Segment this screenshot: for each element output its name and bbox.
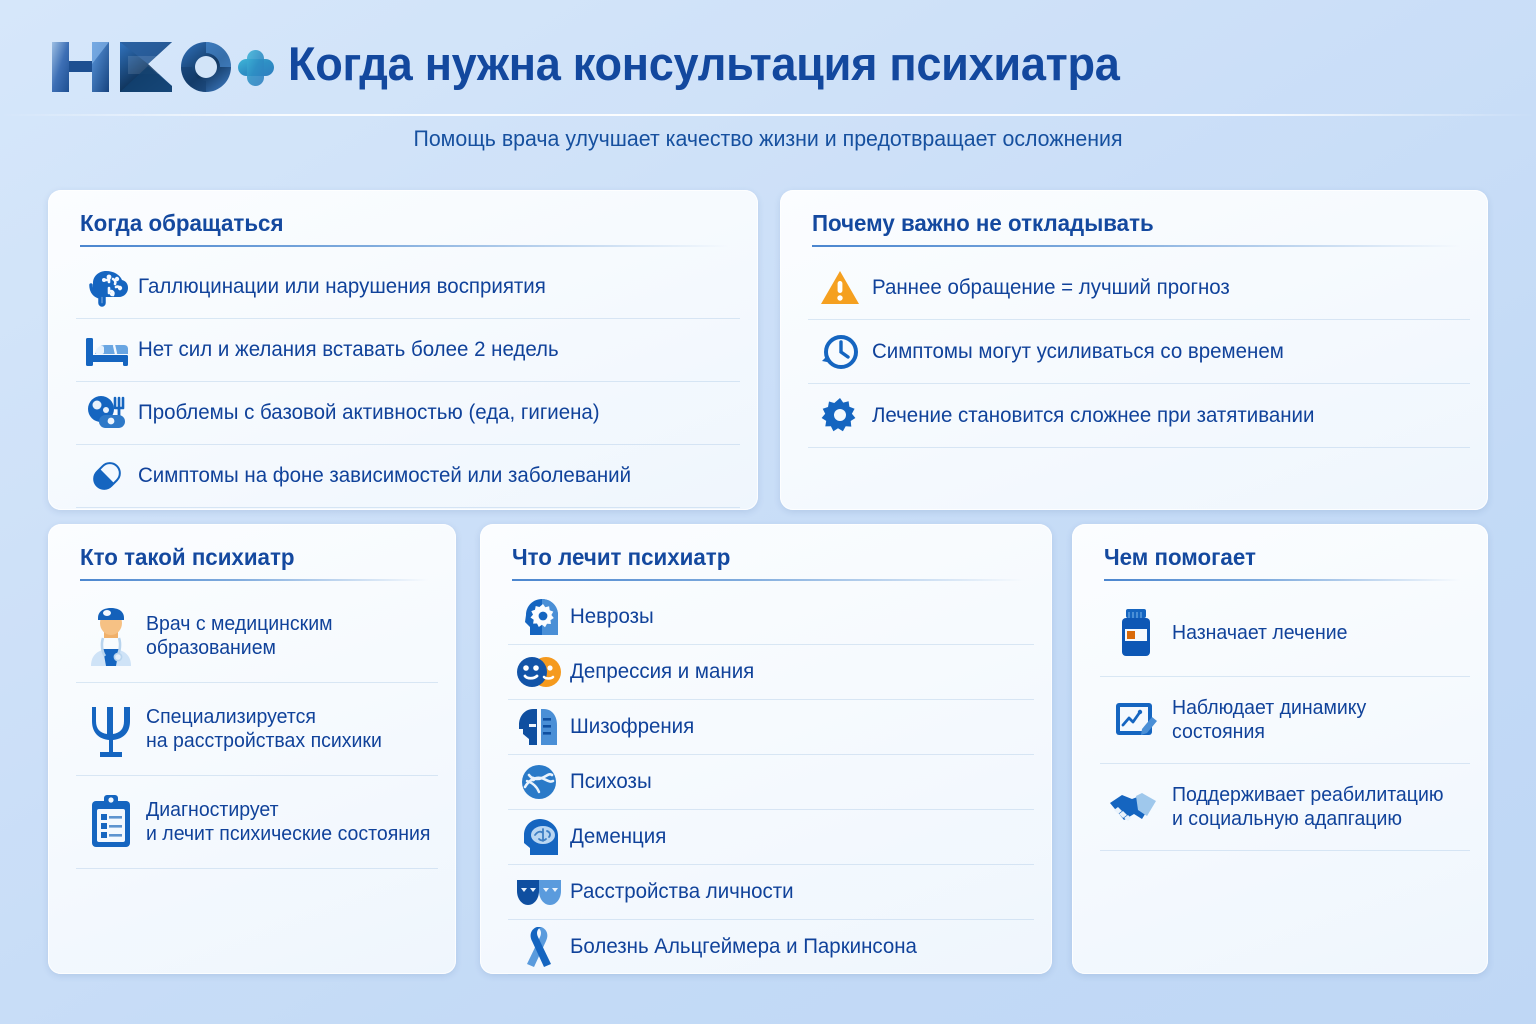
list-item[interactable]: Симптомы на фоне зависимостей или заболе… xyxy=(76,445,740,508)
list-item[interactable]: Поддерживает реабилитацию и социальную а… xyxy=(1100,764,1470,851)
doctor-icon xyxy=(76,604,146,668)
list-item[interactable]: Специализируется на расстройствах психик… xyxy=(76,683,438,776)
list-item-label: Шизофрения xyxy=(570,714,694,740)
list-item-label: Симптомы на фоне зависимостей или заболе… xyxy=(138,463,631,489)
list-item-line-2: и социальную адапгацию xyxy=(1172,807,1443,831)
list-item-line-1: Специализируется xyxy=(146,706,316,728)
list-item[interactable]: Депрессия и мания xyxy=(508,645,1034,700)
list-item-label: Болезнь Альцгеймера и Паркинсона xyxy=(570,934,917,960)
card-title: Чем помогает xyxy=(1104,544,1256,571)
card-item-list: Назначает лечение Наблюдает динамику сос… xyxy=(1100,590,1470,851)
list-item-line-1: Врач с медицинским xyxy=(146,613,333,635)
list-item-label: Раннее обращение = лучший прогноз xyxy=(872,275,1230,301)
chart-monitor-icon xyxy=(1100,698,1172,742)
card-title: Когда обращаться xyxy=(80,210,283,237)
card-how-helps: Чем помогает Назначает лечение xyxy=(1072,524,1488,974)
header: Когда нужна консультация психиатра Помощ… xyxy=(0,0,1536,172)
list-item-label: Деменция xyxy=(570,824,666,850)
head-tangle-icon xyxy=(508,761,570,803)
brain-icon xyxy=(76,267,138,307)
card-title-underline xyxy=(80,245,728,247)
head-gear-icon xyxy=(508,595,570,639)
list-item-label: Врач с медицинским образованием xyxy=(146,612,333,661)
medicine-bottle-icon xyxy=(1100,606,1172,660)
card-item-list: Врач с медицинским образованием Специали… xyxy=(76,590,438,869)
list-item[interactable]: Неврозы xyxy=(508,590,1034,645)
list-item-label: Лечение становится сложнее при затятиван… xyxy=(872,403,1314,429)
list-item-line-2: и лечит психические состояния xyxy=(146,822,430,846)
card-why-not-delay: Почему важно не откладывать Раннее обращ… xyxy=(780,190,1488,510)
card-title: Почему важно не откладывать xyxy=(812,210,1154,237)
warning-triangle-icon xyxy=(808,269,872,307)
pill-capsule-icon xyxy=(76,455,138,497)
list-item[interactable]: Врач с медицинским образованием xyxy=(76,590,438,683)
page-subtitle: Помощь врача улучшает качество жизни и п… xyxy=(23,126,1513,152)
list-item-label: Галлюцинации или нарушения восприятия xyxy=(138,274,546,300)
list-item-line-1: Наблюдает динамику состояния xyxy=(1172,697,1366,743)
neo-plus-logo xyxy=(48,34,276,100)
list-item[interactable]: Психозы xyxy=(508,755,1034,810)
list-item-label: Расстройства личности xyxy=(570,879,794,905)
bed-icon xyxy=(76,332,138,368)
header-divider xyxy=(0,114,1536,116)
list-item[interactable]: Симптомы могут усиливаться со временем xyxy=(808,320,1470,384)
list-item-label: Проблемы с базовой активностью (еда, гиг… xyxy=(138,400,600,426)
card-item-list: Галлюцинации или нарушения восприятия Не… xyxy=(76,256,740,508)
list-item-line-2: образованием xyxy=(146,636,333,660)
card-when-to-seek-help: Когда обращаться Галлюцинации или наруше… xyxy=(48,190,758,510)
card-what-psychiatrist-treats: Что лечит психиатр Неврозы xyxy=(480,524,1052,974)
list-item-label: Симптомы могут усиливаться со временем xyxy=(872,339,1284,365)
list-item-line-1: Поддерживает реабилитацию xyxy=(1172,784,1443,806)
clock-arrow-icon xyxy=(808,331,872,373)
two-masks-faces-icon xyxy=(508,654,570,690)
list-item-line-1: Назначает лечение xyxy=(1172,622,1347,644)
list-item[interactable]: Нет сил и желания вставать более 2 недел… xyxy=(76,319,740,382)
card-who-is-psychiatrist: Кто такой психиатр xyxy=(48,524,456,974)
list-item-label: Диагностирует и лечит психические состоя… xyxy=(146,798,430,847)
list-item[interactable]: Раннее обращение = лучший прогноз xyxy=(808,256,1470,320)
split-head-icon xyxy=(508,705,570,749)
head-brain-icon xyxy=(508,815,570,859)
meal-hygiene-icon xyxy=(76,393,138,433)
card-title-underline xyxy=(1104,579,1460,581)
list-item-label: Поддерживает реабилитацию и социальную а… xyxy=(1172,783,1443,832)
list-item[interactable]: Проблемы с базовой активностью (еда, гиг… xyxy=(76,382,740,445)
list-item[interactable]: Наблюдает динамику состояния xyxy=(1100,677,1470,764)
list-item[interactable]: Расстройства личности xyxy=(508,865,1034,920)
list-item[interactable]: Болезнь Альцгеймера и Паркинсона xyxy=(508,920,1034,975)
card-item-list: Раннее обращение = лучший прогноз Симпто… xyxy=(808,256,1470,448)
card-title-underline xyxy=(812,245,1460,247)
card-item-list: Неврозы Депрессия и мания xyxy=(508,590,1034,975)
psi-symbol-icon xyxy=(76,701,146,757)
clipboard-icon xyxy=(76,793,146,851)
list-item[interactable]: Диагностирует и лечит психические состоя… xyxy=(76,776,438,869)
card-title-underline xyxy=(80,579,428,581)
page-title: Когда нужна консультация психиатра xyxy=(288,36,1120,91)
list-item[interactable]: Деменция xyxy=(508,810,1034,865)
list-item-line-1: Диагностирует xyxy=(146,799,279,821)
gear-icon xyxy=(808,396,872,436)
list-item-line-2: на расстройствах психики xyxy=(146,729,382,753)
awareness-ribbon-icon xyxy=(508,923,570,971)
list-item-label: Специализируется на расстройствах психик… xyxy=(146,705,382,754)
list-item[interactable]: Шизофрения xyxy=(508,700,1034,755)
infographic-page: Когда нужна консультация психиатра Помощ… xyxy=(0,0,1536,1024)
list-item-label: Назначает лечение xyxy=(1172,621,1347,645)
list-item-label: Наблюдает динамику состояния xyxy=(1172,696,1463,745)
card-title-underline xyxy=(512,579,1024,581)
list-item-label: Нет сил и желания вставать более 2 недел… xyxy=(138,337,559,363)
list-item[interactable]: Галлюцинации или нарушения восприятия xyxy=(76,256,740,319)
list-item-label: Депрессия и мания xyxy=(570,659,754,685)
list-item-label: Неврозы xyxy=(570,604,654,630)
handshake-icon xyxy=(1100,787,1172,827)
theatre-masks-icon xyxy=(508,875,570,909)
list-item[interactable]: Назначает лечение xyxy=(1100,590,1470,677)
list-item-label: Психозы xyxy=(570,769,652,795)
list-item[interactable]: Лечение становится сложнее при затятиван… xyxy=(808,384,1470,448)
card-title: Что лечит психиатр xyxy=(512,544,730,571)
card-title: Кто такой психиатр xyxy=(80,544,295,571)
